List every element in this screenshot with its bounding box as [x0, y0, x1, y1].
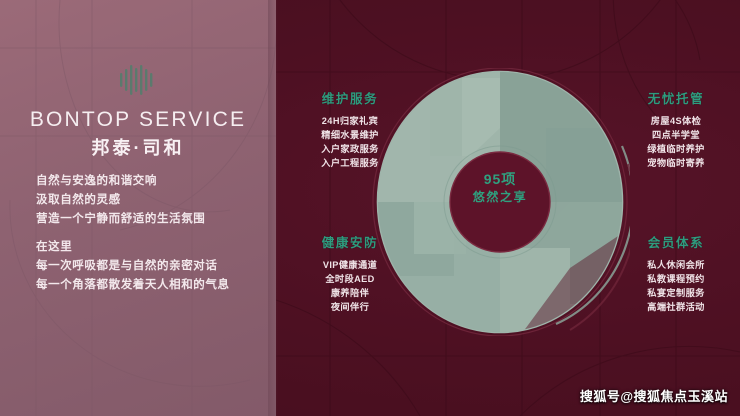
hub-count: 95项 [455, 170, 545, 188]
category-worry-free-hosting: 无忧托管 房屋4S体检 四点半学堂 绿植临时养护 宠物临时寄养 [622, 88, 730, 170]
slide-canvas: BONTOP SERVICE 邦泰·司和 自然与安逸的和谐交响 汲取自然的灵感 … [0, 0, 740, 416]
category-item: 宠物临时寄养 [622, 156, 730, 170]
category-membership: 会员体系 私人休闲会所 私教课程预约 私宴定制服务 高端社群活动 [622, 232, 730, 314]
brand-name-english: BONTOP SERVICE [0, 108, 276, 132]
category-title: 会员体系 [622, 232, 730, 251]
category-item: 高端社群活动 [622, 300, 730, 314]
tagline-line: 自然与安逸的和谐交响 [36, 172, 262, 191]
brand-panel: BONTOP SERVICE 邦泰·司和 自然与安逸的和谐交响 汲取自然的灵感 … [0, 0, 276, 416]
hub-label: 悠然之享 [455, 188, 545, 206]
category-item: 四点半学堂 [622, 128, 730, 142]
tagline-spacer [36, 229, 262, 238]
tagline-line: 汲取自然的灵感 [36, 191, 262, 210]
tagline-line: 每一个角落都散发着天人相和的气息 [36, 276, 262, 295]
category-item: 私人休闲会所 [622, 258, 730, 272]
category-item: 私宴定制服务 [622, 286, 730, 300]
pinwheel-hub: 95项 悠然之享 [455, 162, 545, 234]
category-title: 无忧托管 [622, 88, 730, 107]
brand-name-chinese: 邦泰·司和 [0, 134, 276, 160]
category-item: 绿植临时养护 [622, 142, 730, 156]
vertical-bars-crest-icon [119, 64, 155, 96]
watermark: 搜狐号@搜狐焦点玉溪站 [580, 386, 728, 405]
brand-tagline-block: 自然与安逸的和谐交响 汲取自然的灵感 营造一个宁静而舒适的生活氛围 在这里 每一… [36, 172, 262, 295]
tagline-line: 每一次呼吸都是与自然的亲密对话 [36, 257, 262, 276]
tagline-line: 在这里 [36, 238, 262, 257]
category-item: 房屋4S体检 [622, 114, 730, 128]
category-item: 私教课程预约 [622, 272, 730, 286]
tagline-line: 营造一个宁静而舒适的生活氛围 [36, 210, 262, 229]
